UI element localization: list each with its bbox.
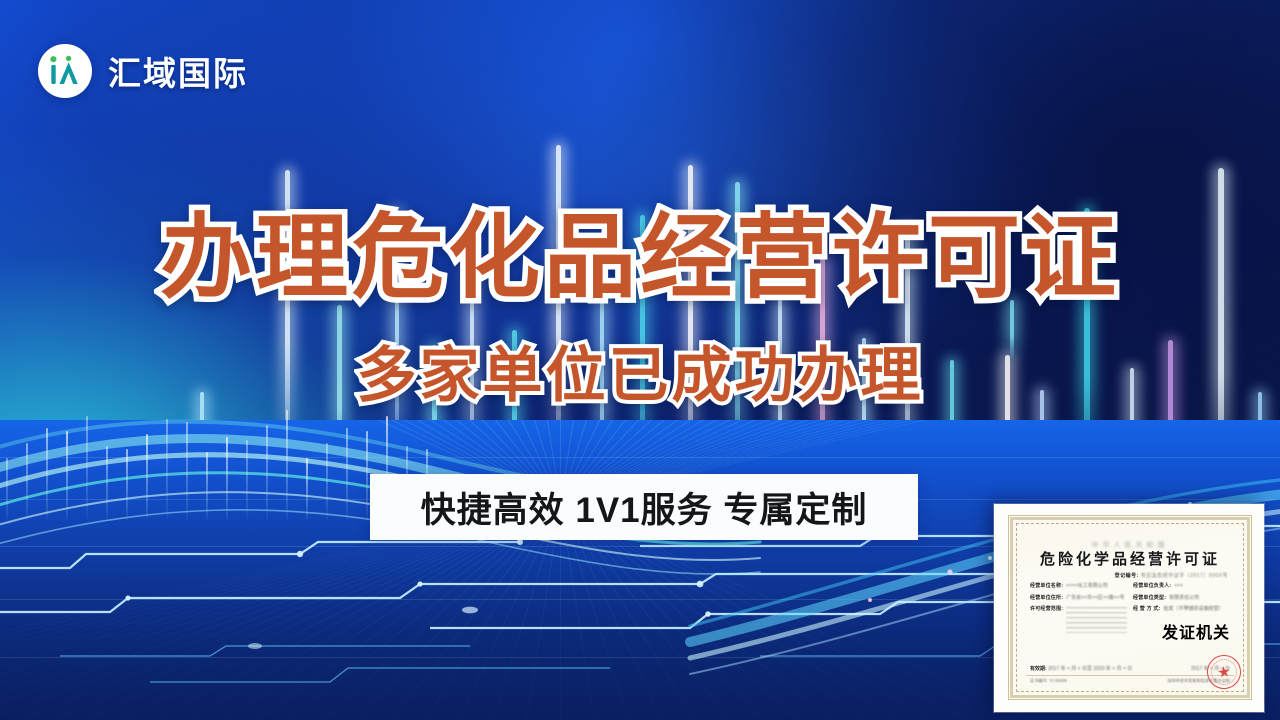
rain-bar <box>86 416 88 520</box>
rain-bar <box>186 422 188 520</box>
certificate-reg-no: 登记编号: 粤应急危经许证字〔2017〕000X号 <box>1026 572 1234 579</box>
certificate-image: 中华人民共和国 危险化学品经营许可证 登记编号: 粤应急危经许证字〔2017〕0… <box>994 504 1264 712</box>
rain-bar <box>286 410 288 520</box>
rain-bar <box>246 440 248 520</box>
hero-headline: 办理危化品经营许可证 <box>0 212 1280 304</box>
rain-bar <box>266 425 268 520</box>
certificate-serial: 证书编号: YJ 00406 <box>1030 678 1067 684</box>
brand-logo[interactable]: 汇域国际 <box>38 44 248 98</box>
certificate-country-header: 中华人民共和国 <box>1026 534 1234 544</box>
certificate-field: 经 营 方 式: 批发（不带储存设施经营） <box>1133 607 1230 613</box>
rain-bar <box>366 431 368 520</box>
certificate-footer: 有效期: 2017 年 × 月 × 日至 2020 年 × 月 × 日 2017… <box>1026 665 1234 673</box>
certificate-issuer: 发证机关 <box>1133 619 1230 643</box>
rain-bar <box>26 443 28 520</box>
certificate-title: 危险化学品经营许可证 <box>1026 548 1234 569</box>
hero-subheadline: 多家单位已成功办理 <box>0 346 1280 406</box>
certificate-field: 经营单位类型: 有限责任公司 <box>1133 596 1230 602</box>
certificate-content: 中华人民共和国 危险化学品经营许可证 登记编号: 粤应急危经许证字〔2017〕0… <box>1020 527 1240 688</box>
rain-bar <box>206 452 208 520</box>
certificate-field: 经营单位名称: ××××化工有限公司 <box>1030 584 1127 590</box>
ia-monogram-icon <box>38 44 92 98</box>
rain-bar <box>6 458 8 520</box>
rain-bar <box>166 419 168 520</box>
rain-bar <box>146 434 148 520</box>
rain-bar <box>46 428 48 520</box>
brand-name: 汇域国际 <box>108 47 248 95</box>
rain-bar <box>106 446 108 520</box>
certificate-bottom-row: 证书编号: YJ 00406 深圳市经济贸易和信息化委员会制 <box>1026 675 1234 684</box>
certificate-field: 许可经营范围: <box>1030 607 1127 633</box>
certificate-validity: 有效期: 2017 年 × 月 × 日至 2020 年 × 月 × 日 <box>1030 665 1132 672</box>
certificate-border: 中华人民共和国 危险化学品经营许可证 登记编号: 粤应急危经许证字〔2017〕0… <box>1010 517 1250 698</box>
rain-bar <box>346 428 348 520</box>
promo-banner: 汇域国际 办理危化品经营许可证 多家单位已成功办理 快捷高效 1V1服务 专属定… <box>0 0 1280 720</box>
rain-bar <box>326 443 328 520</box>
tagline-text: 快捷高效 1V1服务 专属定制 <box>421 482 868 533</box>
rain-bar <box>126 449 128 520</box>
rain-bar <box>306 458 308 520</box>
certificate-field: 经营单位负责人: ××× <box>1133 584 1230 590</box>
certificate-fields: 经营单位名称: ××××化工有限公司 经营单位住所: 广东省××市××区××路×… <box>1026 584 1234 643</box>
tagline-bar: 快捷高效 1V1服务 专属定制 <box>370 474 918 540</box>
rain-bar <box>226 437 228 520</box>
certificate-fields-right: 经营单位负责人: ××× 经营单位类型: 有限责任公司 经 营 方 式: 批发（… <box>1133 584 1230 643</box>
rain-bar <box>66 431 68 520</box>
certificate-fields-left: 经营单位名称: ××××化工有限公司 经营单位住所: 广东省××市××区××路×… <box>1030 584 1127 643</box>
seal-star-glyph: ★ <box>1216 664 1231 681</box>
certificate-field: 经营单位住所: 广东省××市××区××路××号 <box>1030 596 1127 602</box>
